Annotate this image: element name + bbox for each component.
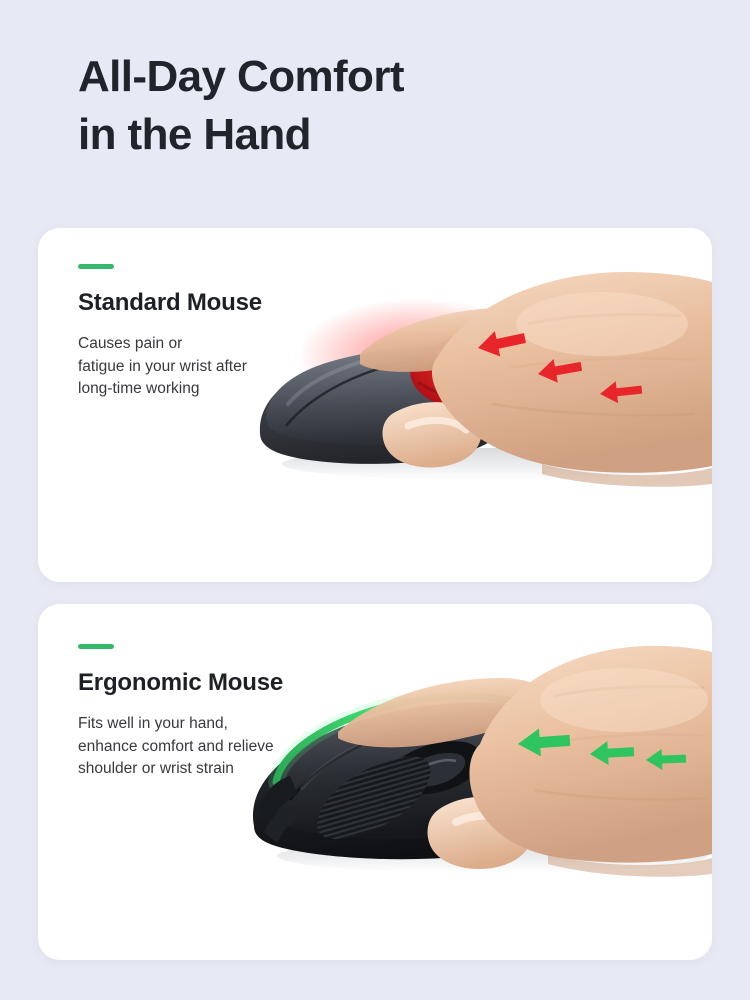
ergonomic-mouse-text-block: Ergonomic Mouse Fits well in your hand, … (78, 644, 283, 781)
standard-mouse-photo (242, 228, 712, 582)
standard-mouse-title: Standard Mouse (78, 289, 262, 317)
ergonomic-mouse-title: Ergonomic Mouse (78, 669, 283, 697)
page-title-line-1: All-Day Comfort (78, 48, 404, 106)
page-title: All-Day Comfort in the Hand (78, 48, 404, 164)
feature-card-ergonomic-mouse: Ergonomic Mouse Fits well in your hand, … (38, 604, 712, 960)
description-line: fatigue in your wrist after (78, 356, 262, 379)
product-feature-page: All-Day Comfort in the Hand (0, 0, 750, 1000)
standard-mouse-text-block: Standard Mouse Causes pain or fatigue in… (78, 264, 262, 401)
page-title-line-2: in the Hand (78, 106, 404, 164)
ergonomic-mouse-photo (242, 604, 712, 960)
description-line: shoulder or wrist strain (78, 758, 283, 781)
accent-dash-icon (78, 644, 114, 649)
standard-mouse-description: Causes pain or fatigue in your wrist aft… (78, 333, 262, 401)
ergonomic-mouse-description: Fits well in your hand, enhance comfort … (78, 713, 283, 781)
description-line: Causes pain or (78, 333, 262, 356)
description-line: enhance comfort and relieve (78, 736, 283, 759)
accent-dash-icon (78, 264, 114, 269)
description-line: long-time working (78, 378, 262, 401)
description-line: Fits well in your hand, (78, 713, 283, 736)
feature-card-standard-mouse: Standard Mouse Causes pain or fatigue in… (38, 228, 712, 582)
